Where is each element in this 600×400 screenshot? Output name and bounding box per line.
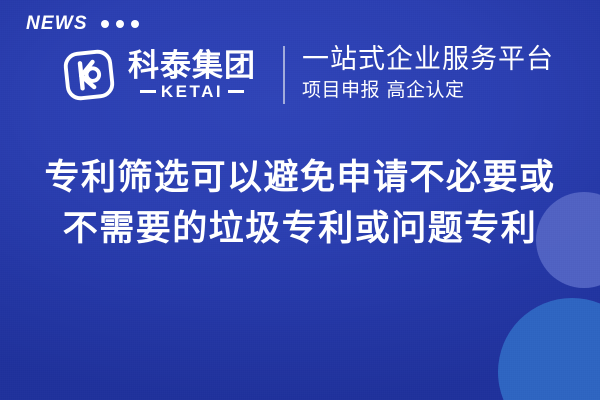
brand-name-en: KETAI bbox=[161, 83, 223, 100]
headline: 专利筛选可以避免申请不必要或 不需要的垃圾专利或问题专利 bbox=[0, 152, 600, 254]
news-label: NEWS bbox=[26, 14, 88, 33]
news-eyebrow: NEWS bbox=[26, 14, 139, 33]
brand-name-cn: 科泰集团 bbox=[128, 50, 256, 83]
decorative-arc bbox=[470, 242, 600, 400]
rule-right bbox=[228, 90, 244, 93]
tagline-block: 一站式企业服务平台 项目申报 高企认定 bbox=[302, 44, 554, 102]
headline-line-1: 专利筛选可以避免申请不必要或 bbox=[18, 152, 582, 203]
brand-names: 科泰集团 KETAI bbox=[128, 50, 256, 101]
decorative-circle-accent bbox=[498, 298, 600, 400]
dot-icon bbox=[101, 20, 109, 28]
headline-line-2: 不需要的垃圾专利或问题专利 bbox=[18, 203, 582, 254]
news-banner: NEWS 科泰集团 KETAI 一站式企业服务平台 bbox=[0, 0, 600, 400]
dot-icon bbox=[116, 20, 124, 28]
brand-name-en-row: KETAI bbox=[140, 83, 244, 100]
tagline-main: 一站式企业服务平台 bbox=[302, 44, 554, 75]
rule-left bbox=[140, 90, 156, 93]
ketai-diamond-kd-logo-icon bbox=[58, 44, 120, 106]
news-dots-icon bbox=[101, 20, 139, 28]
tagline-sub: 项目申报 高企认定 bbox=[302, 79, 554, 102]
brand-lockup: 科泰集团 KETAI bbox=[58, 44, 256, 106]
dot-icon bbox=[131, 20, 139, 28]
brand-divider bbox=[283, 46, 285, 104]
